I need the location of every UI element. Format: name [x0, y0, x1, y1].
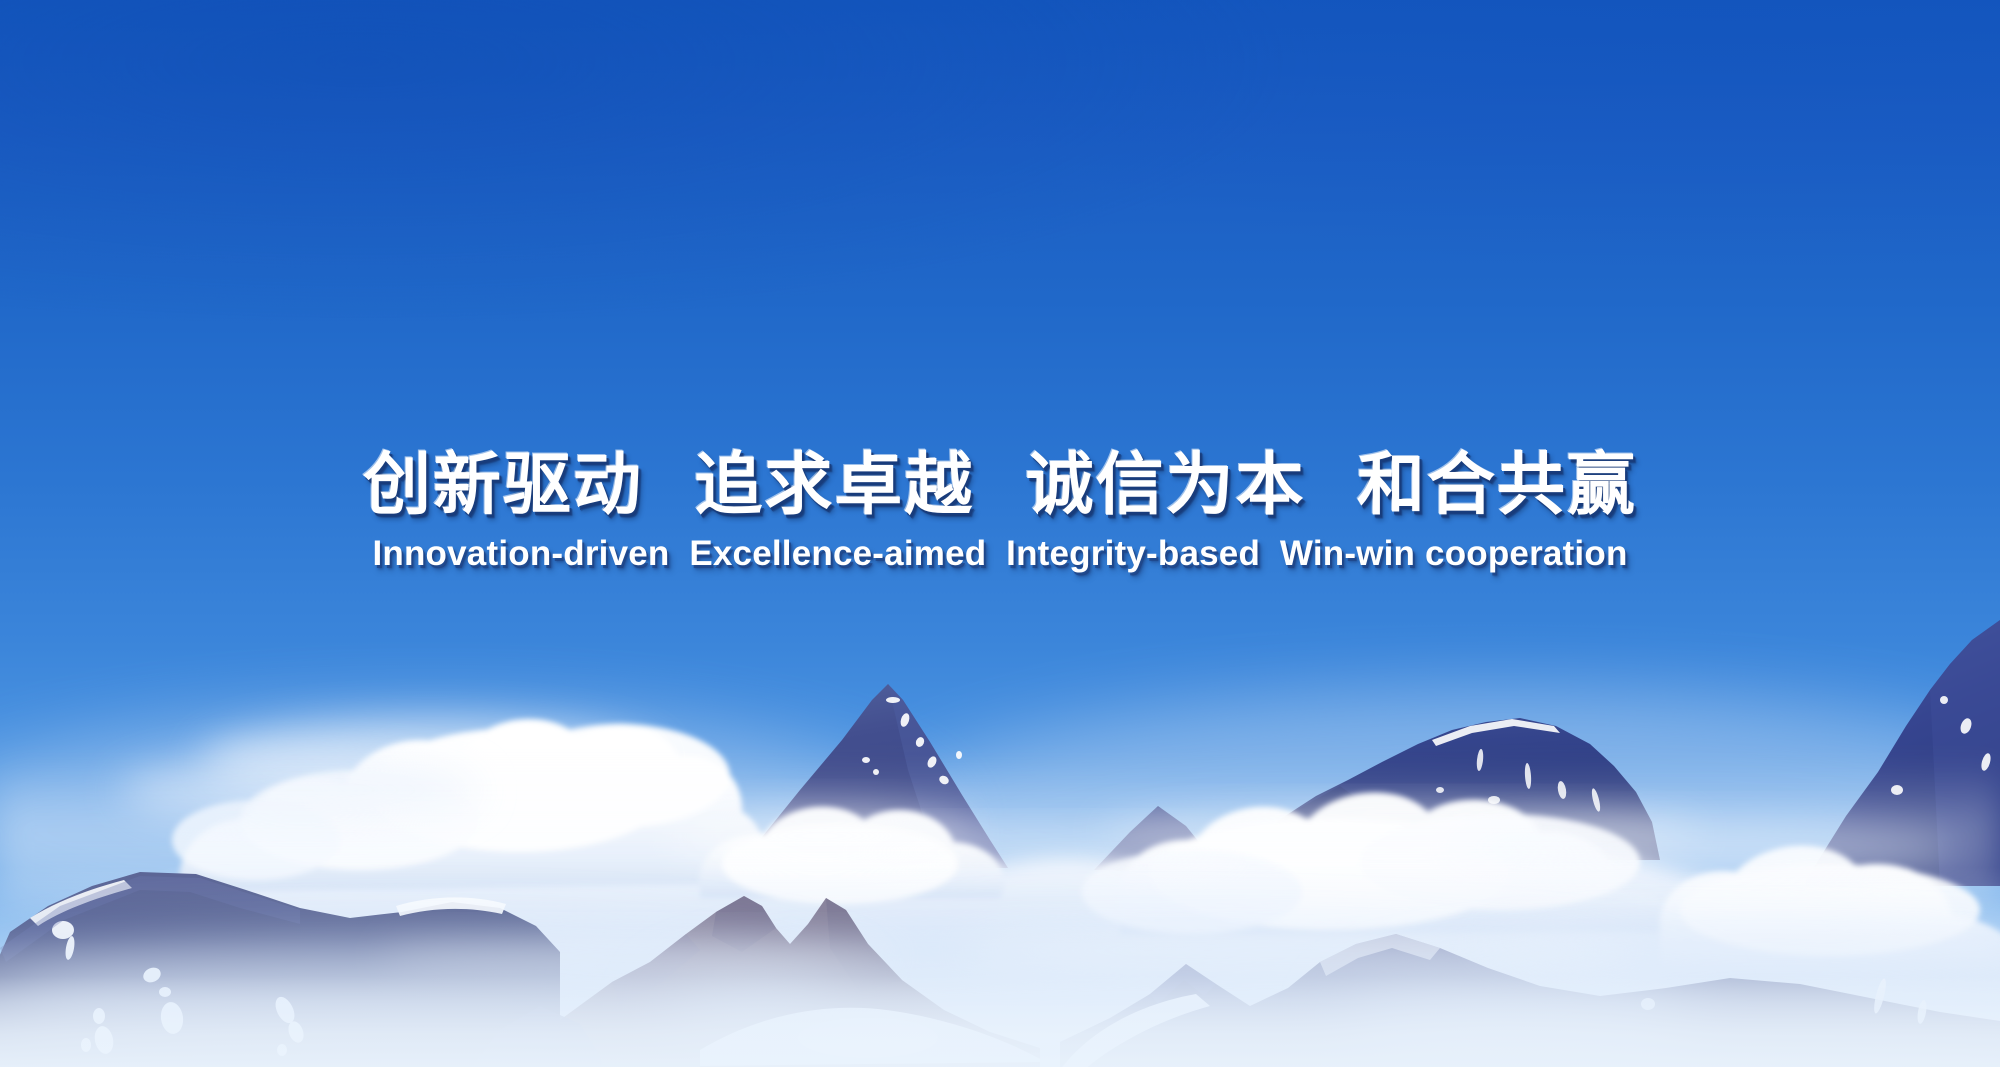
mountain-scenery: [0, 0, 2000, 1067]
hero-banner: 创新驱动 追求卓越 诚信为本 和合共赢 Innovation-driven Ex…: [0, 0, 2000, 1067]
